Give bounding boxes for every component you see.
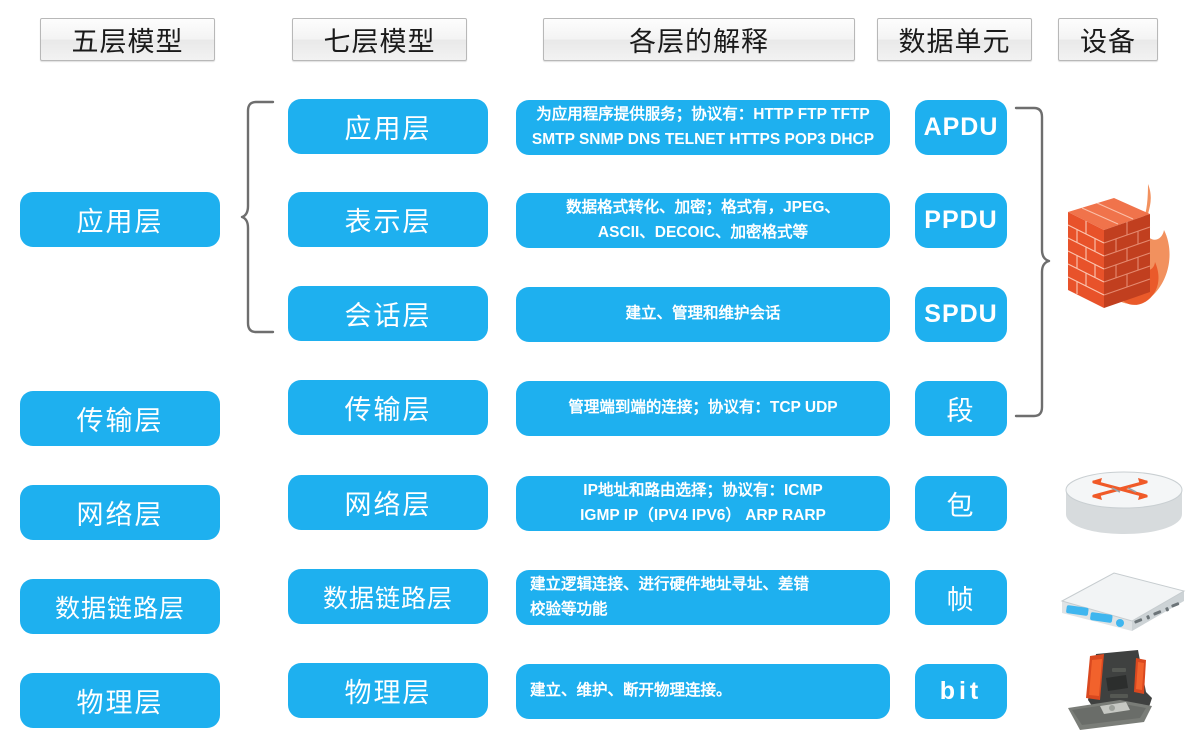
layer-label: 数据链路层 bbox=[55, 589, 185, 625]
header-seven-layer-model: 七层模型 bbox=[292, 18, 467, 61]
explanation-line-2: SMTP SNMP DNS TELNET HTTPS POP3 DHCP bbox=[532, 128, 874, 152]
five-layer-data-link[interactable]: 数据链路层 bbox=[20, 579, 220, 634]
explanation-transport: 管理端到端的连接；协议有：TCP UDP bbox=[516, 381, 890, 436]
layer-label: 网络层 bbox=[77, 493, 164, 532]
explanation-data-link: 建立逻辑连接、进行硬件地址寻址、差错 校验等功能 bbox=[516, 570, 890, 625]
layer-label: 传输层 bbox=[77, 399, 164, 438]
seven-layer-physical[interactable]: 物理层 bbox=[288, 663, 488, 718]
data-unit-segment[interactable]: 段 bbox=[915, 381, 1007, 436]
firewall-icon bbox=[1052, 168, 1192, 328]
data-unit-apdu[interactable]: APDU bbox=[915, 100, 1007, 155]
layer-label: 表示层 bbox=[345, 200, 432, 239]
network-card-icon bbox=[1060, 648, 1178, 738]
layer-label: 物理层 bbox=[345, 671, 432, 710]
layer-label: 物理层 bbox=[77, 681, 164, 720]
data-unit-ppdu[interactable]: PPDU bbox=[915, 193, 1007, 248]
osi-model-diagram: 五层模型 七层模型 各层的解释 数据单元 设备 应用层 传输层 网络层 数据链路… bbox=[0, 0, 1201, 743]
seven-layer-network[interactable]: 网络层 bbox=[288, 475, 488, 530]
seven-layer-presentation[interactable]: 表示层 bbox=[288, 192, 488, 247]
data-unit-packet[interactable]: 包 bbox=[915, 476, 1007, 531]
five-layer-application[interactable]: 应用层 bbox=[20, 192, 220, 247]
five-layer-physical[interactable]: 物理层 bbox=[20, 673, 220, 728]
seven-layer-data-link[interactable]: 数据链路层 bbox=[288, 569, 488, 624]
explanation-line-1: 管理端到端的连接；协议有：TCP UDP bbox=[568, 396, 837, 420]
seven-layer-application[interactable]: 应用层 bbox=[288, 99, 488, 154]
layer-label: 数据链路层 bbox=[323, 579, 453, 615]
explanation-line-1: 数据格式转化、加密；格式有，JPEG、 bbox=[566, 196, 840, 220]
five-layer-network[interactable]: 网络层 bbox=[20, 485, 220, 540]
explanation-line-1: 建立、管理和维护会话 bbox=[625, 302, 780, 326]
data-unit-label: bit bbox=[940, 677, 983, 706]
layer-label: 会话层 bbox=[345, 294, 432, 333]
layer-label: 网络层 bbox=[345, 483, 432, 522]
data-unit-spdu[interactable]: SPDU bbox=[915, 287, 1007, 342]
data-unit-label: 段 bbox=[947, 389, 976, 428]
data-unit-label: 包 bbox=[947, 484, 976, 523]
header-layer-explanation: 各层的解释 bbox=[543, 18, 855, 61]
explanation-line-1: 为应用程序提供服务；协议有：HTTP FTP TFTP bbox=[532, 103, 874, 127]
data-unit-label: PPDU bbox=[924, 206, 997, 235]
seven-layer-transport[interactable]: 传输层 bbox=[288, 380, 488, 435]
data-unit-frame[interactable]: 帧 bbox=[915, 570, 1007, 625]
data-unit-label: SPDU bbox=[924, 300, 997, 329]
explanation-presentation: 数据格式转化、加密；格式有，JPEG、 ASCII、DECOIC、加密格式等 bbox=[516, 193, 890, 248]
header-label: 五层模型 bbox=[72, 20, 184, 59]
explanation-line-2: 校验等功能 bbox=[530, 598, 809, 622]
five-layer-transport[interactable]: 传输层 bbox=[20, 391, 220, 446]
explanation-line-1: IP地址和路由选择；协议有：ICMP bbox=[580, 479, 826, 503]
data-unit-label: 帧 bbox=[947, 578, 976, 617]
seven-layer-session[interactable]: 会话层 bbox=[288, 286, 488, 341]
layer-label: 应用层 bbox=[77, 200, 164, 239]
header-device: 设备 bbox=[1058, 18, 1158, 61]
explanation-physical: 建立、维护、断开物理连接。 bbox=[516, 664, 890, 719]
header-label: 数据单元 bbox=[899, 20, 1011, 59]
explanation-session: 建立、管理和维护会话 bbox=[516, 287, 890, 342]
header-data-unit: 数据单元 bbox=[877, 18, 1032, 61]
layer-label: 传输层 bbox=[345, 388, 432, 427]
router-icon bbox=[1060, 468, 1188, 542]
data-unit-bit[interactable]: bit bbox=[915, 664, 1007, 719]
header-label: 各层的解释 bbox=[629, 20, 769, 59]
header-label: 设备 bbox=[1080, 20, 1136, 59]
application-group-brace bbox=[240, 98, 276, 338]
switch-icon bbox=[1054, 565, 1190, 637]
explanation-line-1: 建立、维护、断开物理连接。 bbox=[530, 679, 732, 703]
header-label: 七层模型 bbox=[324, 20, 436, 59]
layer-label: 应用层 bbox=[345, 107, 432, 146]
data-unit-label: APDU bbox=[924, 113, 999, 142]
explanation-line-1: 建立逻辑连接、进行硬件地址寻址、差错 bbox=[530, 573, 809, 597]
explanation-network: IP地址和路由选择；协议有：ICMP IGMP IP（IPV4 IPV6） AR… bbox=[516, 476, 890, 531]
explanation-line-2: ASCII、DECOIC、加密格式等 bbox=[566, 221, 840, 245]
header-five-layer-model: 五层模型 bbox=[40, 18, 215, 61]
firewall-group-brace bbox=[1012, 104, 1052, 424]
explanation-line-2: IGMP IP（IPV4 IPV6） ARP RARP bbox=[580, 504, 826, 528]
explanation-application: 为应用程序提供服务；协议有：HTTP FTP TFTP SMTP SNMP DN… bbox=[516, 100, 890, 155]
